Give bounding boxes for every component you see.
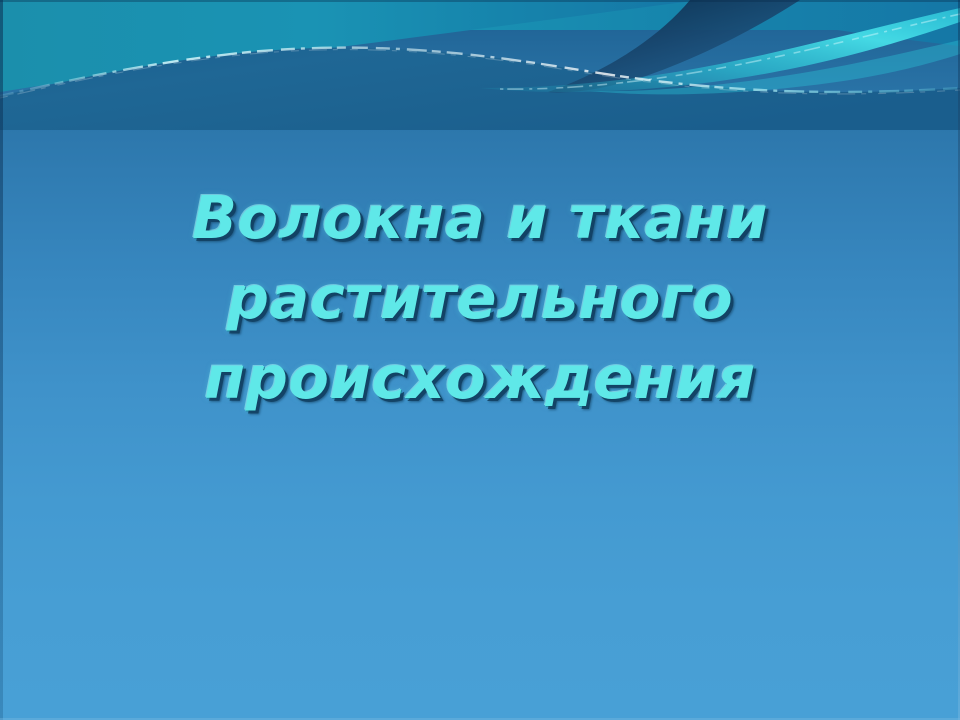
title-line-3: происхождения (60, 348, 900, 407)
title-line-1: Волокна и ткани (60, 188, 900, 247)
title-line-2: растительного (60, 268, 900, 327)
wave-decoration (0, 0, 960, 130)
title-slide: Волокна и ткани растительного происхожде… (0, 0, 960, 720)
slide-title: Волокна и ткани растительного происхожде… (60, 188, 900, 407)
